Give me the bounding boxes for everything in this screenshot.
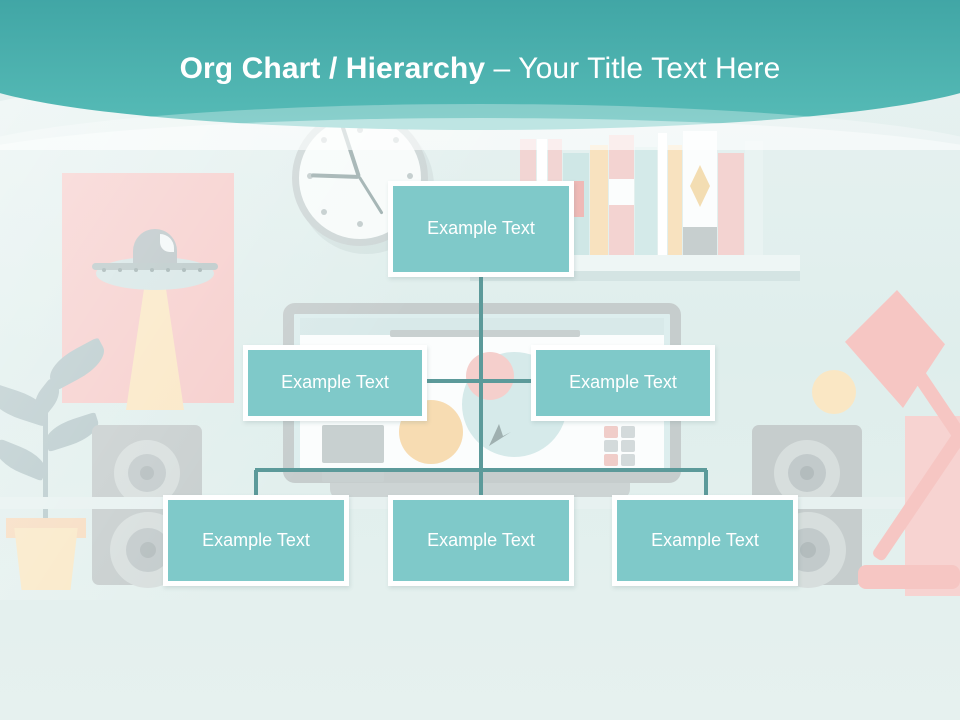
org-node-child-3-label: Example Text	[651, 531, 759, 551]
slide-canvas: Org Chart / Hierarchy – Your Title Text …	[0, 0, 960, 720]
org-node-root-label: Example Text	[427, 219, 535, 239]
org-node-left[interactable]: Example Text	[243, 345, 427, 421]
org-node-root[interactable]: Example Text	[388, 181, 574, 277]
org-node-right[interactable]: Example Text	[531, 345, 715, 421]
org-node-left-label: Example Text	[281, 373, 389, 393]
org-chart: Example Text Example Text Example Text E…	[0, 0, 960, 720]
org-node-right-label: Example Text	[569, 373, 677, 393]
org-chart-connectors	[0, 0, 960, 720]
org-node-child-1[interactable]: Example Text	[163, 495, 349, 586]
org-node-child-2[interactable]: Example Text	[388, 495, 574, 586]
org-node-child-2-label: Example Text	[427, 531, 535, 551]
org-node-child-3[interactable]: Example Text	[612, 495, 798, 586]
org-node-child-1-label: Example Text	[202, 531, 310, 551]
